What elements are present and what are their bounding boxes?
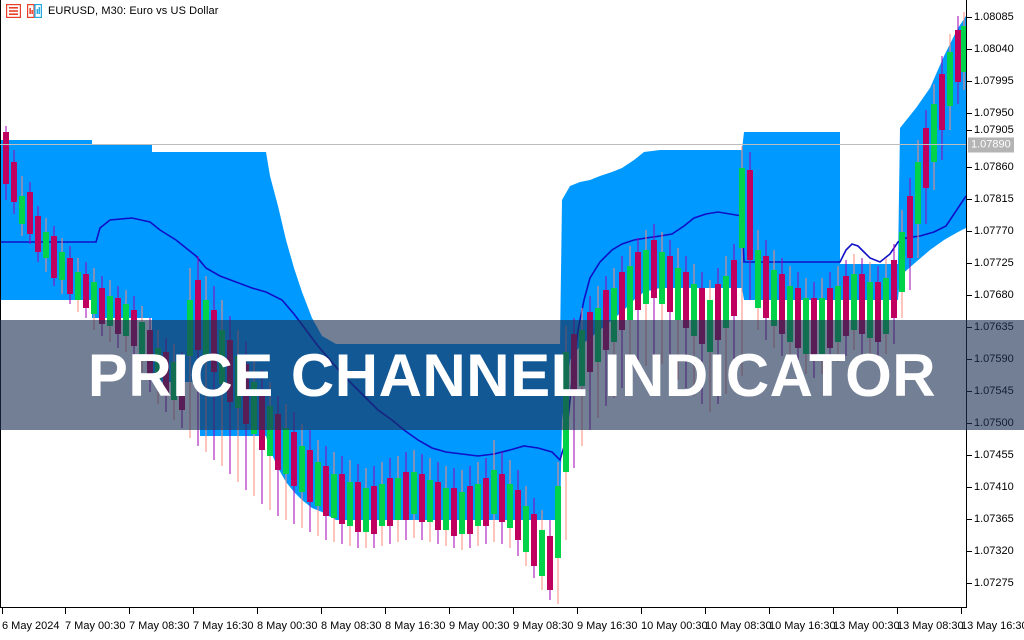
current-price-badge: 1.07890 [968, 138, 1014, 153]
price-tick-label: 1.07905 [974, 124, 1014, 136]
time-scale[interactable]: 6 May 2024 7 May 00:30 7 May 08:30 7 May… [0, 608, 1024, 640]
price-tick-label: 1.07410 [974, 481, 1014, 493]
time-tick-label: 10 May 16:30 [769, 620, 836, 632]
time-tick-label: 8 May 16:30 [385, 620, 446, 632]
chart-symbol-title: EURUSD, M30: Euro vs US Dollar [48, 5, 219, 17]
chart-plot-area[interactable] [0, 0, 966, 608]
time-tick-label: 13 May 08:30 [897, 620, 964, 632]
bar-chart-icon[interactable] [27, 4, 42, 18]
banner-title: PRICE CHANNEL INDICATOR [0, 320, 1024, 430]
price-tick-label: 1.07725 [974, 257, 1014, 269]
time-tick-label: 10 May 08:30 [705, 620, 772, 632]
price-tick-label: 1.07275 [974, 577, 1014, 589]
time-tick-label: 13 May 00:30 [833, 620, 900, 632]
price-tick-label: 1.07680 [974, 289, 1014, 301]
price-tick-label: 1.07320 [974, 545, 1014, 557]
time-tick-label: 9 May 16:30 [577, 620, 638, 632]
table-view-icon[interactable] [6, 4, 21, 18]
price-tick-label: 1.08040 [974, 43, 1014, 55]
price-scale[interactable]: 1.08085 1.08040 1.07995 1.07950 1.07905 … [967, 0, 1024, 608]
price-channel-plot [0, 0, 966, 608]
channel-fill [0, 16, 966, 520]
time-tick-label: 8 May 08:30 [321, 620, 382, 632]
time-tick-label: 10 May 00:30 [641, 620, 708, 632]
time-tick-label: 7 May 08:30 [129, 620, 190, 632]
price-tick-label: 1.07770 [974, 225, 1014, 237]
time-tick-label: 6 May 2024 [2, 620, 59, 632]
time-tick-label: 9 May 00:30 [449, 620, 510, 632]
time-tick-label: 8 May 00:30 [257, 620, 318, 632]
current-price-line [0, 144, 966, 145]
plot-left-border [0, 0, 1, 608]
chart-header: EURUSD, M30: Euro vs US Dollar [0, 0, 219, 22]
time-tick-label: 7 May 00:30 [65, 620, 126, 632]
price-tick-label: 1.07455 [974, 449, 1014, 461]
price-tick-label: 1.07860 [974, 161, 1014, 173]
chart-window: EURUSD, M30: Euro vs US Dollar [0, 0, 1024, 640]
time-tick-label: 13 May 16:30 [961, 620, 1024, 632]
price-tick-label: 1.07815 [974, 193, 1014, 205]
time-tick-label: 9 May 08:30 [513, 620, 574, 632]
price-tick-label: 1.07950 [974, 107, 1014, 119]
price-tick-label: 1.07995 [974, 75, 1014, 87]
time-tick-label: 7 May 16:30 [193, 620, 254, 632]
price-tick-label: 1.07365 [974, 513, 1014, 525]
price-tick-label: 1.08085 [974, 11, 1014, 23]
